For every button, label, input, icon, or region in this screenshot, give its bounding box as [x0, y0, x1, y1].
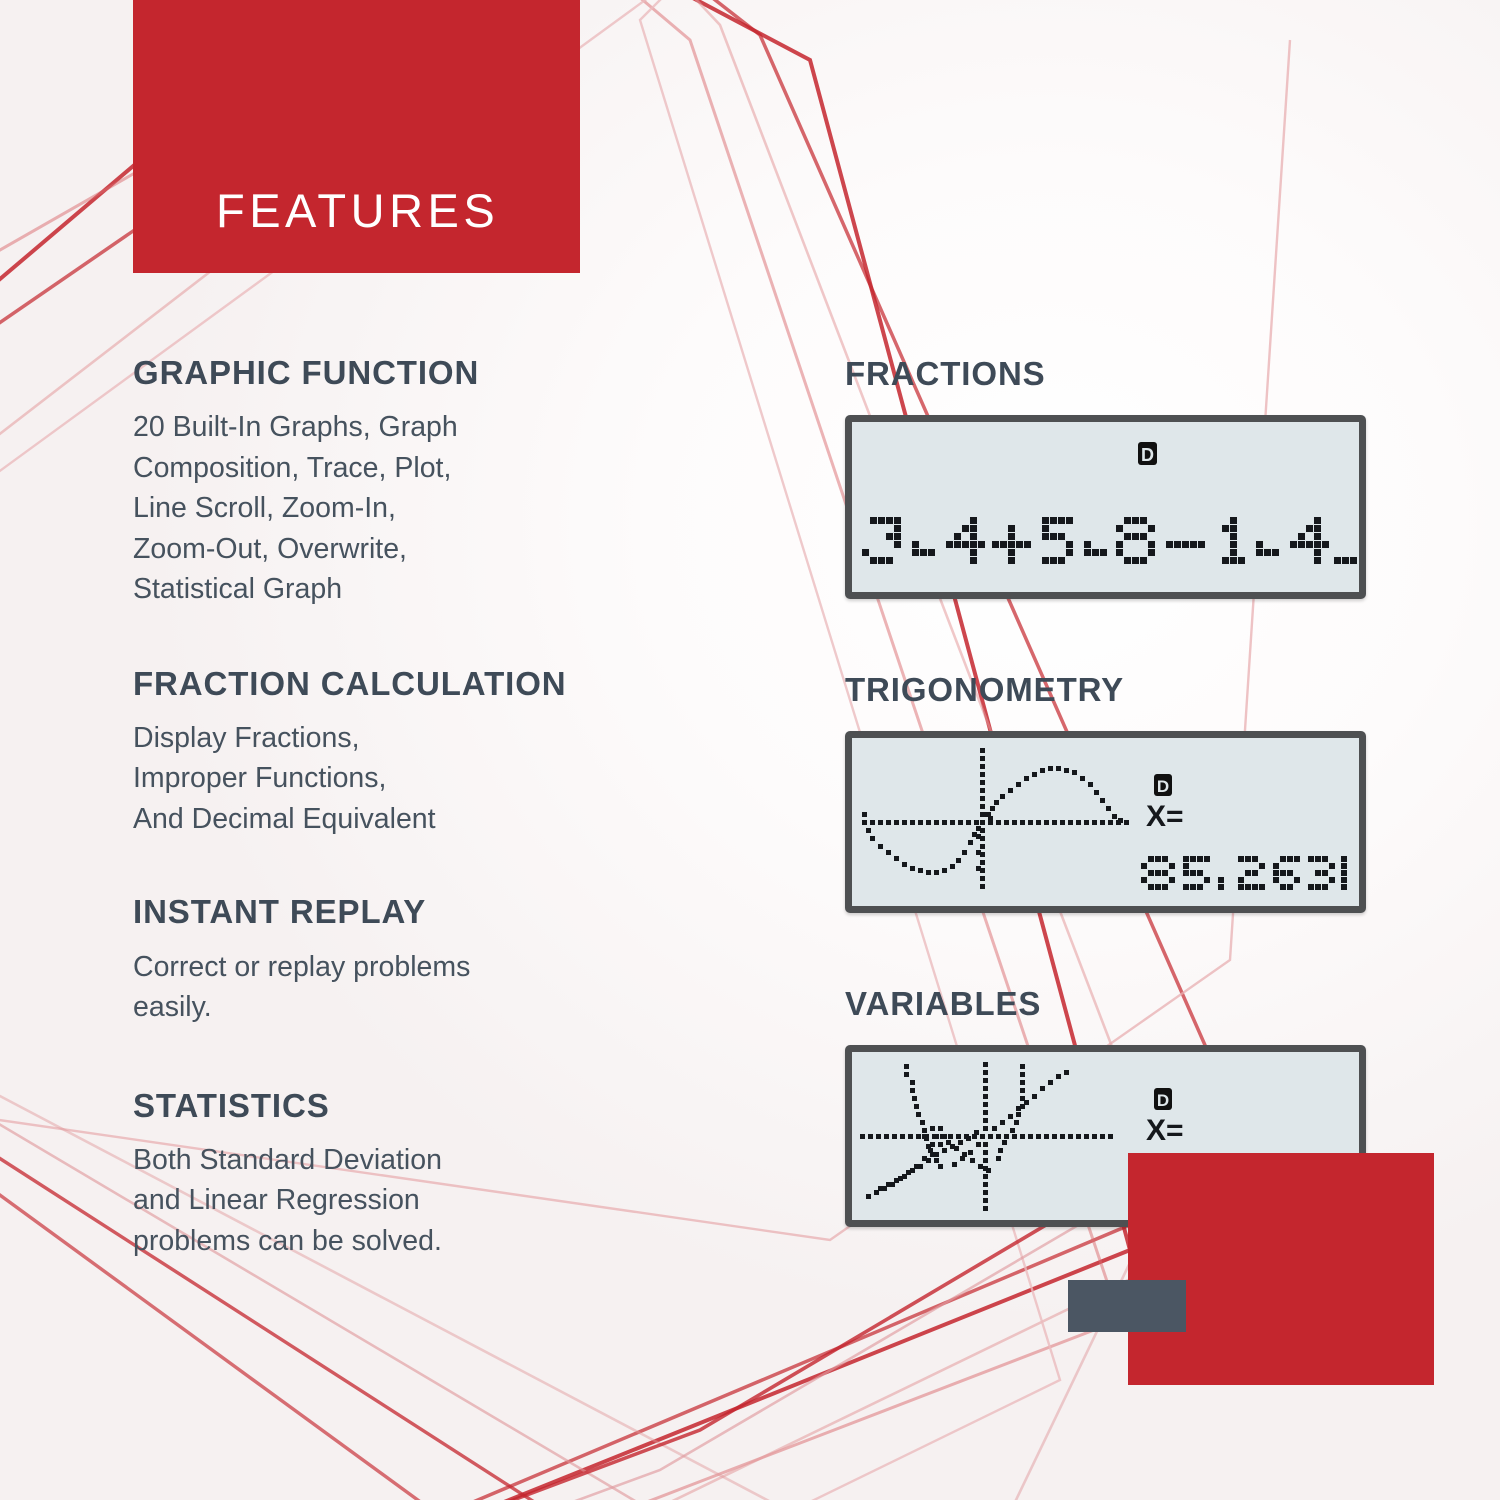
svg-text:D: D [1157, 1091, 1169, 1110]
panel-title: FRACTIONS [845, 355, 1445, 393]
feature-graphic-function: GRAPHIC FUNCTION 20 Built-In Graphs, Gra… [133, 355, 753, 610]
feature-title: FRACTION CALCULATION [133, 666, 753, 702]
lcd-content-trigonometry: D X= [852, 738, 1359, 906]
lcd-value-tail [1341, 856, 1347, 890]
linear-functions-plot [860, 1062, 1113, 1211]
lcd-expression [862, 517, 1357, 564]
panel-title: TRIGONOMETRY [845, 671, 1445, 709]
feature-body: 20 Built-In Graphs, Graph Composition, T… [133, 407, 753, 609]
page-title: FEATURES [216, 183, 499, 238]
mode-indicator-d: D [1154, 1088, 1172, 1110]
sine-wave-plot [862, 748, 1129, 889]
svg-text:D: D [1141, 445, 1154, 465]
lcd-x-label: X= [1146, 1114, 1184, 1147]
lcd-value [1141, 856, 1335, 890]
feature-body: Display Fractions, Improper Functions, A… [133, 718, 753, 839]
feature-body: Correct or replay problems easily. [133, 947, 753, 1028]
feature-title: STATISTICS [133, 1088, 753, 1124]
feature-body: Both Standard Deviation and Linear Regre… [133, 1140, 753, 1261]
infographic-page: FEATURES GRAPHIC FUNCTION 20 Built-In Gr… [0, 0, 1500, 1500]
footer-gray-tab [1068, 1280, 1186, 1332]
feature-title: INSTANT REPLAY [133, 894, 753, 930]
feature-fraction-calculation: FRACTION CALCULATION Display Fractions, … [133, 666, 753, 840]
lcd-screen-fractions: D [845, 415, 1366, 599]
svg-text:D: D [1157, 777, 1169, 796]
feature-title: GRAPHIC FUNCTION [133, 355, 753, 391]
feature-instant-replay: INSTANT REPLAY Correct or replay problem… [133, 894, 753, 1027]
mode-indicator-d: D [1154, 774, 1172, 796]
panel-trigonometry: TRIGONOMETRY [845, 671, 1445, 913]
panel-fractions: FRACTIONS D [845, 355, 1445, 599]
lcd-x-label: X= [1146, 800, 1184, 833]
features-left-column: GRAPHIC FUNCTION 20 Built-In Graphs, Gra… [133, 355, 753, 1289]
feature-statistics: STATISTICS Both Standard Deviation and L… [133, 1088, 753, 1262]
mode-indicator-d: D [1138, 442, 1157, 465]
footer-red-block [1128, 1153, 1434, 1385]
lcd-screen-trigonometry: D X= [845, 731, 1366, 913]
panel-title: VARIABLES [845, 985, 1445, 1023]
lcd-content-fractions: D [852, 422, 1359, 592]
